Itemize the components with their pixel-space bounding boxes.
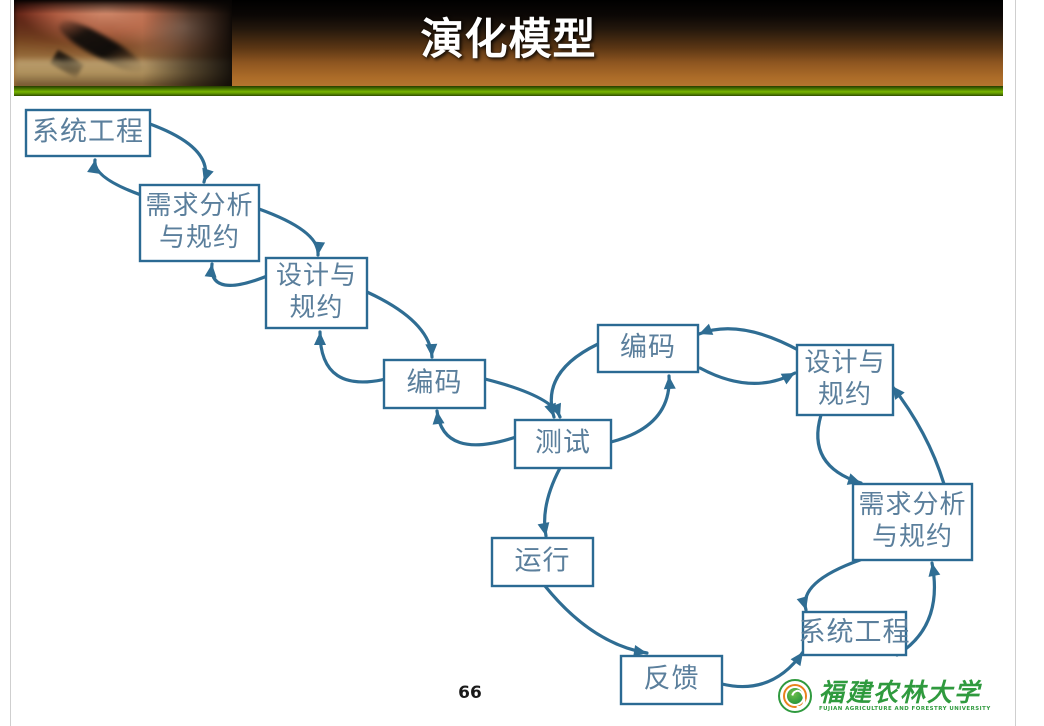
node-label: 测试 [535, 428, 591, 459]
arrow-head [425, 344, 437, 357]
flow-arrow-n5-to-n6 [611, 376, 669, 442]
flow-arrow-n3-to-n4 [367, 292, 432, 357]
diagram-node-n11: 反馈 [621, 656, 722, 704]
arrow-head [664, 376, 676, 389]
node-label: 需求分析 [858, 490, 966, 520]
diagram-node-n4: 编码 [384, 360, 485, 408]
flow-arrow-n8-to-n7 [892, 386, 944, 484]
university-logo: 福建农林大学 FUJIAN AGRICULTURE AND FORESTRY U… [778, 673, 978, 719]
slide-title: 演化模型 [14, 10, 1003, 70]
diagram-node-n1: 系统工程 [26, 110, 150, 156]
flow-arrow-n5-to-n4 [437, 411, 516, 445]
arrow-head [313, 242, 325, 256]
node-label: 运行 [515, 546, 571, 577]
node-label: 设计与 [804, 348, 885, 378]
diagram-node-n9: 系统工程 [799, 612, 911, 655]
node-label: 规约 [289, 293, 343, 323]
slide-header-banner: 演化模型 [14, 0, 1003, 96]
page-number: 66 [430, 683, 510, 703]
flow-arrow-n6-to-n7 [700, 368, 795, 383]
arrow-head [929, 563, 941, 577]
arrow-head [314, 332, 326, 345]
node-label: 与规约 [159, 223, 240, 253]
flow-arrow-n10-to-n11 [545, 586, 647, 653]
flow-arrow-n3-to-n2 [212, 264, 272, 285]
diagram-node-n2: 需求分析与规约 [140, 185, 259, 261]
flow-arrow-n2-to-n3 [259, 209, 318, 255]
arrow-head [544, 403, 556, 417]
diagram-node-n10: 运行 [492, 538, 593, 586]
flow-arrow-n1-to-n2 [150, 124, 206, 182]
node-label: 需求分析 [145, 191, 253, 221]
flow-arrow-n4-to-n3 [320, 332, 390, 382]
node-label: 与规约 [872, 522, 953, 552]
node-label: 编码 [620, 332, 676, 363]
presentation-slide: 演化模型 系统工程需求分析与规约设计与规约编码测试编码设计与规约需求分析与规约系… [0, 0, 1044, 726]
university-name-english: FUJIAN AGRICULTURE AND FORESTRY UNIVERSI… [819, 707, 991, 712]
diagram-node-n3: 设计与规约 [266, 258, 367, 328]
flow-arrow-n8-to-n9 [805, 560, 860, 610]
header-green-accent-bar [14, 86, 1003, 96]
node-label: 系统工程 [799, 617, 911, 648]
node-label: 规约 [818, 380, 872, 410]
diagram-node-n8: 需求分析与规约 [853, 484, 972, 560]
diagram-node-n5: 测试 [515, 420, 611, 468]
arrow-head [202, 168, 213, 182]
flow-arrow-n7-to-n6 [699, 329, 800, 351]
flow-arrow-n7-to-n8 [818, 415, 861, 483]
node-label: 设计与 [276, 261, 357, 291]
evolutionary-model-diagram: 系统工程需求分析与规约设计与规约编码测试编码设计与规约需求分析与规约系统工程运行… [0, 96, 1044, 726]
diagram-node-layer: 系统工程需求分析与规约设计与规约编码测试编码设计与规约需求分析与规约系统工程运行… [26, 110, 972, 704]
university-name: 福建农林大学 [819, 680, 991, 705]
node-label: 系统工程 [32, 117, 144, 148]
university-emblem-icon [778, 679, 812, 713]
node-label: 反馈 [644, 664, 700, 695]
flow-arrow-n4-to-n5 [485, 379, 560, 417]
node-label: 编码 [407, 368, 463, 399]
diagram-node-n6: 编码 [598, 325, 698, 372]
diagram-node-n7: 设计与规约 [797, 345, 893, 415]
arrow-head [538, 522, 550, 536]
